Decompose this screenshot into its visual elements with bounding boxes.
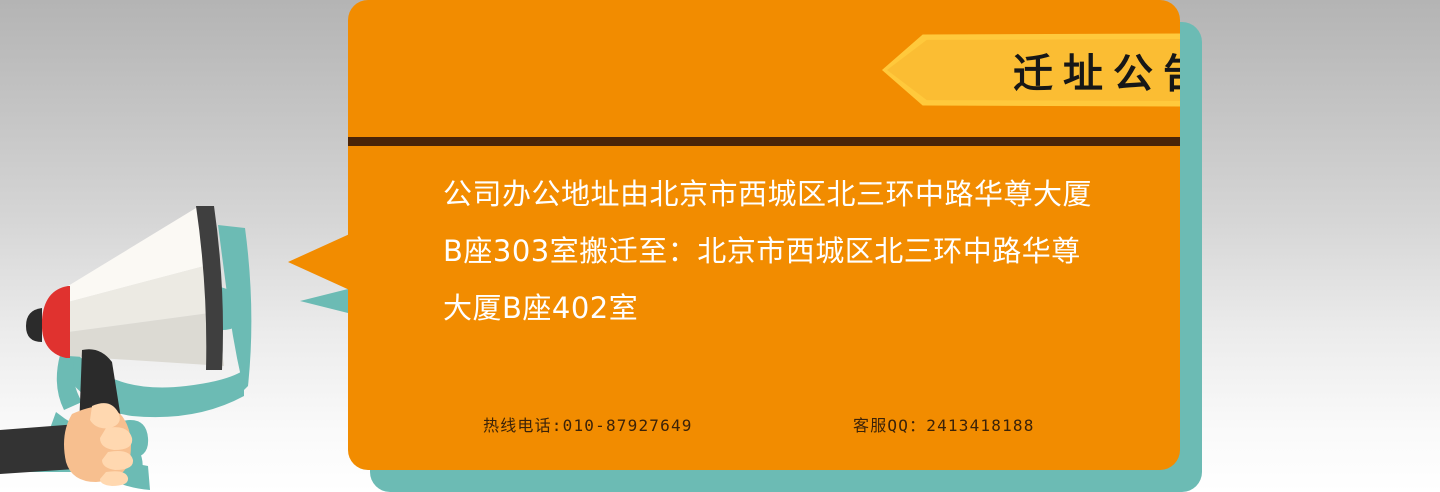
- megaphone-illustration: [0, 190, 330, 492]
- announcement-banner-image: 迁址公告 公司办公地址由北京市西城区北三环中路华尊大厦B座303室搬迁至：北京市…: [0, 0, 1440, 492]
- customer-service-qq-text: 客服QQ：2413418188: [853, 412, 1035, 436]
- header-divider: [348, 137, 1180, 146]
- megaphone-mouth: [42, 286, 70, 358]
- megaphone-mouth-cap: [26, 308, 42, 342]
- contact-footer: 热线电话:010-87927649 客服QQ：2413418188: [348, 408, 1180, 438]
- announcement-card: 迁址公告 公司办公地址由北京市西城区北三环中路华尊大厦B座303室搬迁至：北京市…: [348, 0, 1180, 470]
- title-ribbon: 迁址公告: [882, 33, 1180, 107]
- hand: [64, 403, 133, 486]
- speech-tail: [288, 232, 354, 292]
- hotline-text: 热线电话:010-87927649: [483, 412, 693, 436]
- announcement-body-text: 公司办公地址由北京市西城区北三环中路华尊大厦B座303室搬迁至：北京市西城区北三…: [443, 166, 1093, 337]
- announcement-title: 迁址公告: [882, 33, 1180, 107]
